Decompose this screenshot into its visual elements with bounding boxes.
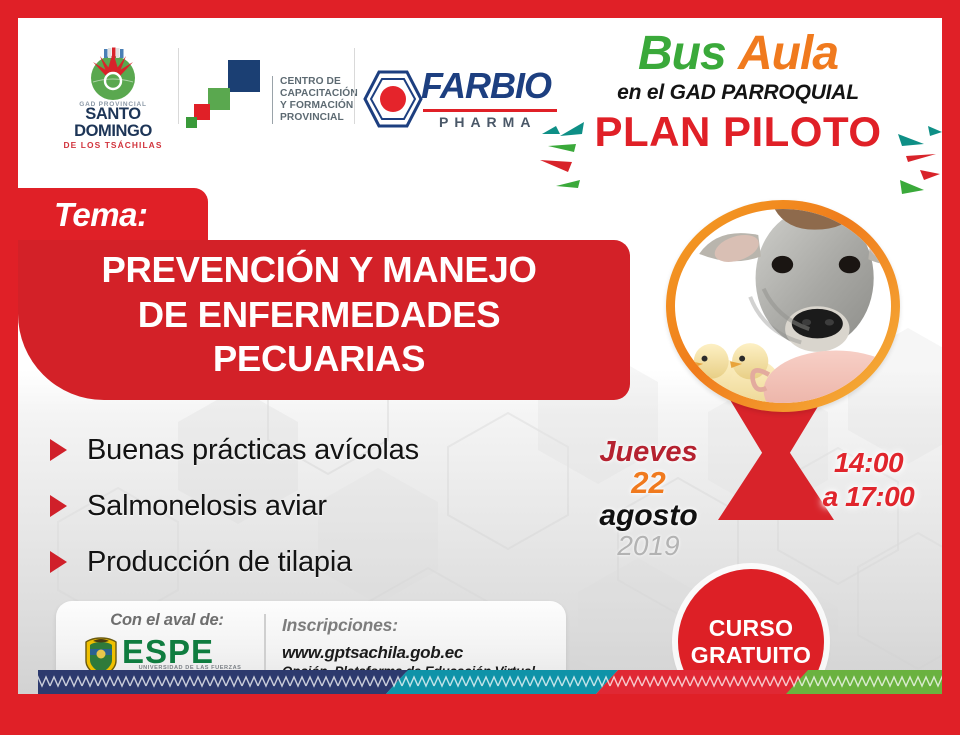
list-item: Salmonelosis aviar bbox=[40, 478, 560, 534]
centro-line-1: CENTRO DE bbox=[280, 76, 358, 88]
bullet-label: Producción de tilapia bbox=[87, 546, 352, 579]
header-subtitle: en el GAD PARROQUIAL bbox=[548, 81, 928, 105]
espe-wordmark: ESPE bbox=[122, 635, 214, 668]
centro-capacitacion-text: CENTRO DE CAPACITACIÓN Y FORMACIÓN PROVI… bbox=[272, 76, 358, 124]
bullet-triangle-icon bbox=[50, 495, 67, 517]
logo-divider-1 bbox=[178, 48, 179, 124]
centro-line-4: PROVINCIAL bbox=[280, 112, 358, 124]
poster-root: GAD PROVINCIAL SANTO DOMINGO DE LOS TSÁC… bbox=[0, 0, 960, 735]
topic-title-line-3: PECUARIAS bbox=[18, 337, 620, 382]
time-block: 14:00 a 17:00 bbox=[776, 446, 942, 513]
badge-line-2: GRATUITO bbox=[691, 642, 811, 669]
bullet-triangle-icon bbox=[50, 551, 67, 573]
centro-line-2: CAPACITACIÓN bbox=[280, 88, 358, 100]
bottom-color-stripe bbox=[18, 668, 942, 694]
date-month: agosto bbox=[576, 500, 721, 532]
bullet-label: Salmonelosis aviar bbox=[87, 490, 327, 523]
bus-aula-title: Bus Aula bbox=[548, 30, 928, 78]
farbio-tagline: PHARMA bbox=[439, 114, 536, 130]
centro-line-3: Y FORMACIÓN bbox=[280, 100, 358, 112]
aval-label: Con el aval de: bbox=[78, 611, 256, 630]
centro-squares-icon bbox=[186, 60, 264, 132]
poster-canvas: GAD PROVINCIAL SANTO DOMINGO DE LOS TSÁC… bbox=[18, 18, 942, 694]
date-block: Jueves 22 agosto 2019 bbox=[576, 438, 721, 560]
santo-domingo-mark-icon bbox=[80, 46, 146, 102]
topic-title: PREVENCIÓN Y MANEJO DE ENFERMEDADES PECU… bbox=[18, 248, 630, 382]
livestock-illustration-icon bbox=[675, 209, 891, 403]
farbio-rule bbox=[423, 109, 557, 112]
list-item: Producción de tilapia bbox=[40, 534, 560, 590]
farbio-hexagon-icon bbox=[363, 70, 423, 128]
bus-word: Bus bbox=[638, 27, 726, 80]
date-day: 22 bbox=[576, 467, 721, 500]
date-weekday: Jueves bbox=[576, 438, 721, 467]
list-item: Buenas prácticas avícolas bbox=[40, 422, 560, 478]
time-end: a 17:00 bbox=[776, 480, 942, 514]
topic-title-line-1: PREVENCIÓN Y MANEJO bbox=[18, 248, 620, 293]
photo-oval-inner bbox=[675, 209, 891, 403]
aula-word: Aula bbox=[738, 27, 838, 80]
logo-divider-2 bbox=[354, 48, 355, 124]
animals-photo bbox=[638, 194, 928, 424]
logo-santo-domingo: GAD PROVINCIAL SANTO DOMINGO DE LOS TSÁC… bbox=[53, 46, 173, 141]
photo-oval-ring bbox=[666, 200, 900, 412]
plan-piloto-title: PLAN PILOTO bbox=[548, 111, 928, 153]
confetti-right-icon bbox=[894, 118, 942, 202]
bullet-label: Buenas prácticas avícolas bbox=[87, 434, 419, 467]
header-block: Bus Aula en el GAD PARROQUIAL PLAN PILOT… bbox=[548, 30, 928, 153]
registration-label: Inscripciones: bbox=[282, 615, 554, 636]
topic-title-line-2: DE ENFERMEDADES bbox=[18, 293, 620, 338]
registration-url[interactable]: www.gptsachila.gob.ec bbox=[282, 643, 554, 663]
date-year: 2019 bbox=[576, 531, 721, 560]
farbio-name: FARBIO bbox=[421, 68, 551, 104]
logo-centro-capacitacion: CENTRO DE CAPACITACIÓN Y FORMACIÓN PROVI… bbox=[186, 60, 356, 138]
bullet-triangle-icon bbox=[50, 439, 67, 461]
badge-line-1: CURSO bbox=[691, 615, 811, 642]
confetti-left-icon bbox=[526, 114, 596, 190]
time-start: 14:00 bbox=[776, 446, 942, 480]
tema-tab-label: Tema: bbox=[18, 188, 208, 234]
santo-domingo-subtitle: DE LOS TSÁCHILAS bbox=[53, 140, 173, 150]
santo-domingo-name: SANTO DOMINGO bbox=[53, 106, 173, 139]
tema-tab: Tema: bbox=[18, 188, 208, 244]
topics-list: Buenas prácticas avícolas Salmonelosis a… bbox=[40, 422, 560, 590]
topic-banner: PREVENCIÓN Y MANEJO DE ENFERMEDADES PECU… bbox=[18, 240, 630, 400]
